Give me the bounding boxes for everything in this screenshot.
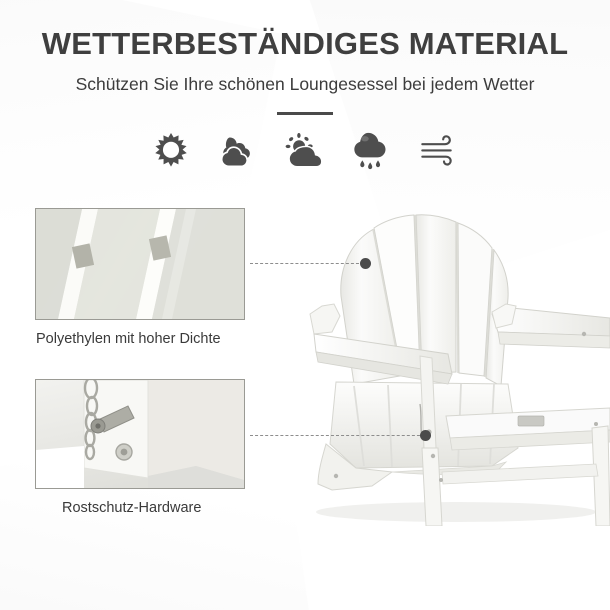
leader-dot-hardware: [420, 430, 431, 441]
page-subtitle: Schützen Sie Ihre schönen Loungesessel b…: [0, 74, 610, 95]
hardware-closeup-thumbnail: [35, 379, 245, 489]
rain-cloud-icon: [350, 128, 394, 172]
callout-label-polyethylene: Polyethylen mit hoher Dichte: [36, 331, 245, 347]
leader-line-hardware: [250, 435, 425, 436]
brand-plate: [518, 416, 544, 426]
weather-icon-strip: [0, 128, 610, 172]
clouds-icon: [216, 128, 260, 172]
slats-closeup-thumbnail: [35, 208, 245, 320]
adirondack-chair-photo: [296, 176, 610, 526]
callout-label-hardware: Rostschutz-Hardware: [62, 500, 245, 516]
page-title: WETTERBESTÄNDIGES MATERIAL: [0, 26, 610, 62]
leader-dot-polyethylene: [360, 258, 371, 269]
title-divider: [277, 112, 333, 115]
leader-line-polyethylene: [250, 263, 364, 264]
sun-behind-cloud-icon: [283, 128, 327, 172]
wind-icon: [417, 128, 461, 172]
infographic-canvas: WETTERBESTÄNDIGES MATERIAL Schützen Sie …: [0, 0, 610, 610]
callout-polyethylene: Polyethylen mit hoher Dichte: [35, 208, 245, 347]
callout-hardware: Rostschutz-Hardware: [35, 379, 245, 516]
sun-icon: [149, 128, 193, 172]
